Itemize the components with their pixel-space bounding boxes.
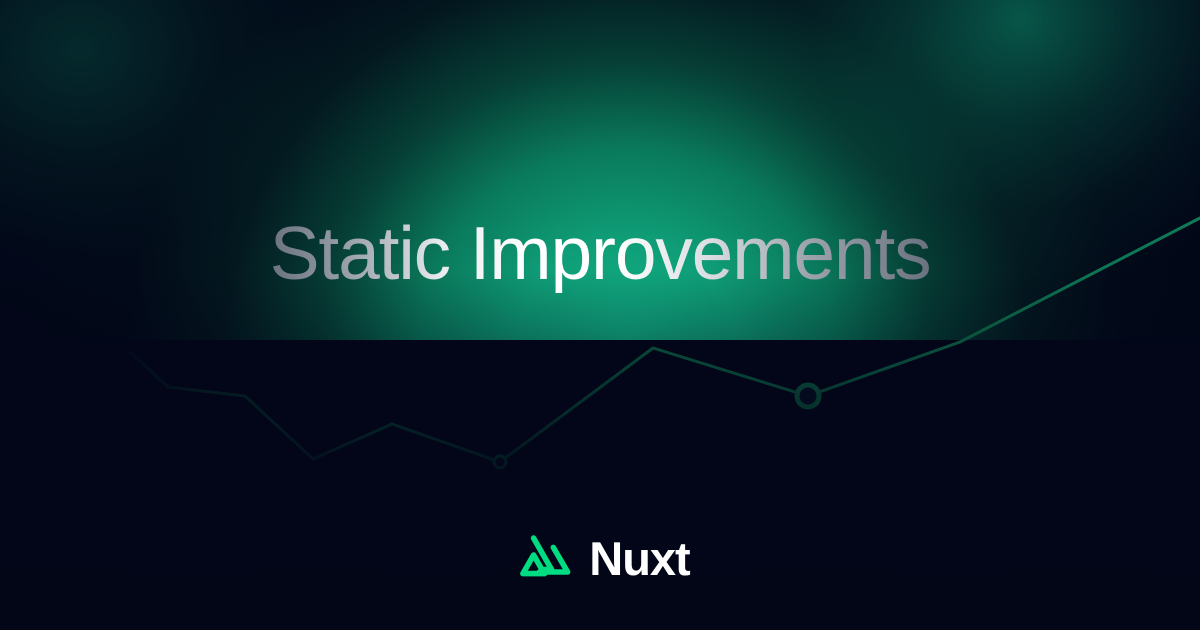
chart-markers (494, 385, 819, 468)
brand-name: Nuxt (589, 535, 689, 582)
brand-footer: Nuxt (0, 534, 1200, 583)
title-container: Static Improvements (0, 214, 1200, 293)
page-title: Static Improvements (270, 214, 931, 293)
og-card: Static Improvements Nuxt (0, 0, 1200, 630)
chart-data-point (797, 385, 819, 407)
nuxt-mountain-icon (510, 534, 572, 583)
chart-data-point (494, 456, 506, 468)
